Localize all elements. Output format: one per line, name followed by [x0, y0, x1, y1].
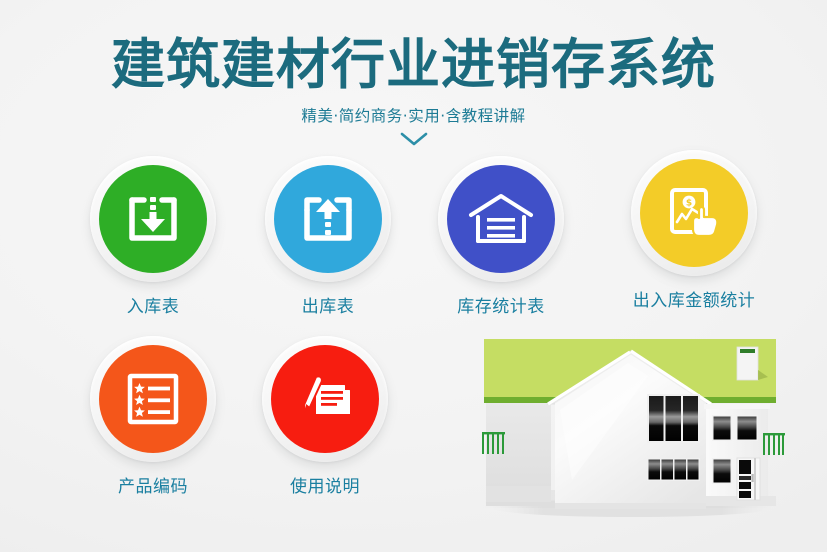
building-illustration [460, 330, 827, 552]
page-title: 建筑建材行业进销存系统 [0, 34, 827, 96]
tile-outbound[interactable]: 出库表 [253, 156, 403, 318]
header: 建筑建材行业进销存系统 精美·简约商务·实用·含教程讲解 [0, 34, 827, 148]
tile-inbound-circle[interactable] [90, 156, 216, 282]
subtitle: 精美·简约商务·实用·含教程讲解 [0, 106, 827, 126]
tile-amount-label: 出入库金额统计 [619, 290, 769, 312]
money-chart-tap-icon: $ [640, 159, 748, 267]
pen-document-icon [271, 345, 379, 453]
star-list-icon [99, 345, 207, 453]
tile-amount-circle[interactable]: $ [631, 150, 757, 276]
poster-canvas: 建筑建材行业进销存系统 精美·简约商务·实用·含教程讲解 入库表 [0, 0, 827, 552]
tile-inbound[interactable]: 入库表 [78, 156, 228, 318]
tile-product[interactable]: 产品编码 [78, 336, 228, 498]
tile-manual[interactable]: 使用说明 [250, 336, 400, 498]
svg-text:$: $ [686, 199, 692, 209]
tile-stock-label: 库存统计表 [426, 296, 576, 318]
tile-product-circle[interactable] [90, 336, 216, 462]
tile-amount[interactable]: $ 出入库金额统计 [619, 150, 769, 312]
tile-stock[interactable]: 库存统计表 [426, 156, 576, 318]
tile-outbound-label: 出库表 [253, 296, 403, 318]
chevron-down-icon [0, 130, 827, 148]
tile-product-label: 产品编码 [78, 476, 228, 498]
tile-manual-label: 使用说明 [250, 476, 400, 498]
outbound-arrow-icon [274, 165, 382, 273]
tile-inbound-label: 入库表 [78, 296, 228, 318]
tile-manual-circle[interactable] [262, 336, 388, 462]
tile-outbound-circle[interactable] [265, 156, 391, 282]
inbound-arrow-icon [99, 165, 207, 273]
tile-stock-circle[interactable] [438, 156, 564, 282]
warehouse-icon [447, 165, 555, 273]
